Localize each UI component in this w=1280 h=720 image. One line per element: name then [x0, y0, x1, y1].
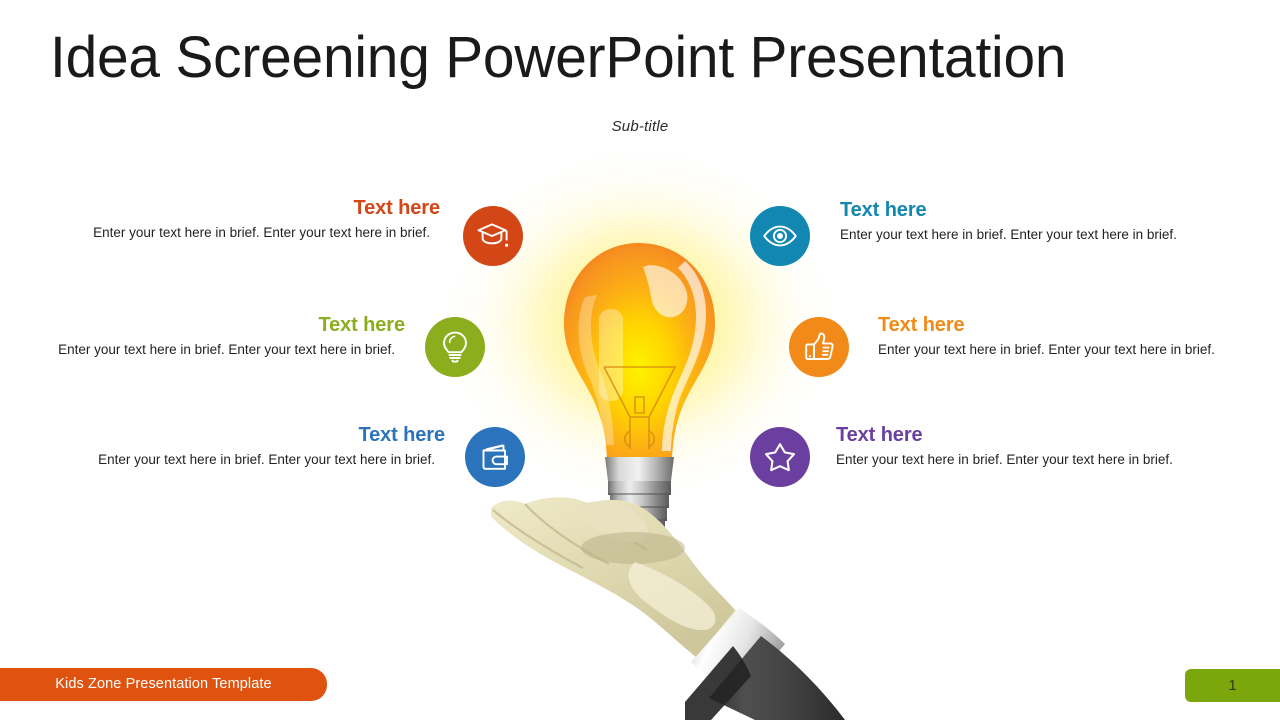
open-hand-illustration [485, 490, 865, 720]
left-item-3-icon-circle[interactable] [465, 427, 525, 487]
left-item-1-heading: Text here [140, 196, 440, 220]
right-item-1-heading: Text here [840, 198, 1140, 222]
right-item-2-icon-circle[interactable] [789, 317, 849, 377]
left-item-2-body: Enter your text here in brief. Enter you… [25, 340, 395, 359]
presentation-slide: Idea Screening PowerPoint Presentation S… [0, 0, 1280, 720]
graduation-cap-icon [476, 221, 510, 251]
left-item-3-heading: Text here [150, 423, 445, 447]
right-item-2-heading: Text here [878, 313, 1178, 337]
bulb-highlight-left [599, 309, 623, 401]
bulb-collar [605, 457, 674, 481]
right-item-3-body: Enter your text here in brief. Enter you… [836, 450, 1181, 469]
right-item-2-body: Enter your text here in brief. Enter you… [878, 340, 1223, 359]
left-item-3-body: Enter your text here in brief. Enter you… [65, 450, 435, 469]
footer-template-badge[interactable]: Kids Zone Presentation Template [0, 668, 327, 701]
star-icon [763, 441, 797, 473]
lightbulb-icon [441, 330, 469, 364]
right-item-3-heading: Text here [836, 423, 1136, 447]
right-item-3-icon-circle[interactable] [750, 427, 810, 487]
left-item-2-heading: Text here [110, 313, 405, 337]
hand-shadow [581, 532, 685, 564]
right-item-1-icon-circle[interactable] [750, 206, 810, 266]
left-item-2-icon-circle[interactable] [425, 317, 485, 377]
page-title: Idea Screening PowerPoint Presentation [50, 22, 1216, 94]
eye-icon [762, 224, 798, 248]
slide-number-badge: 1 [1185, 669, 1280, 702]
left-item-1-icon-circle[interactable] [463, 206, 523, 266]
thumbs-up-icon [803, 331, 835, 363]
right-item-1-body: Enter your text here in brief. Enter you… [840, 225, 1185, 244]
left-item-1-body: Enter your text here in brief. Enter you… [60, 223, 430, 242]
wallet-icon [479, 441, 511, 473]
